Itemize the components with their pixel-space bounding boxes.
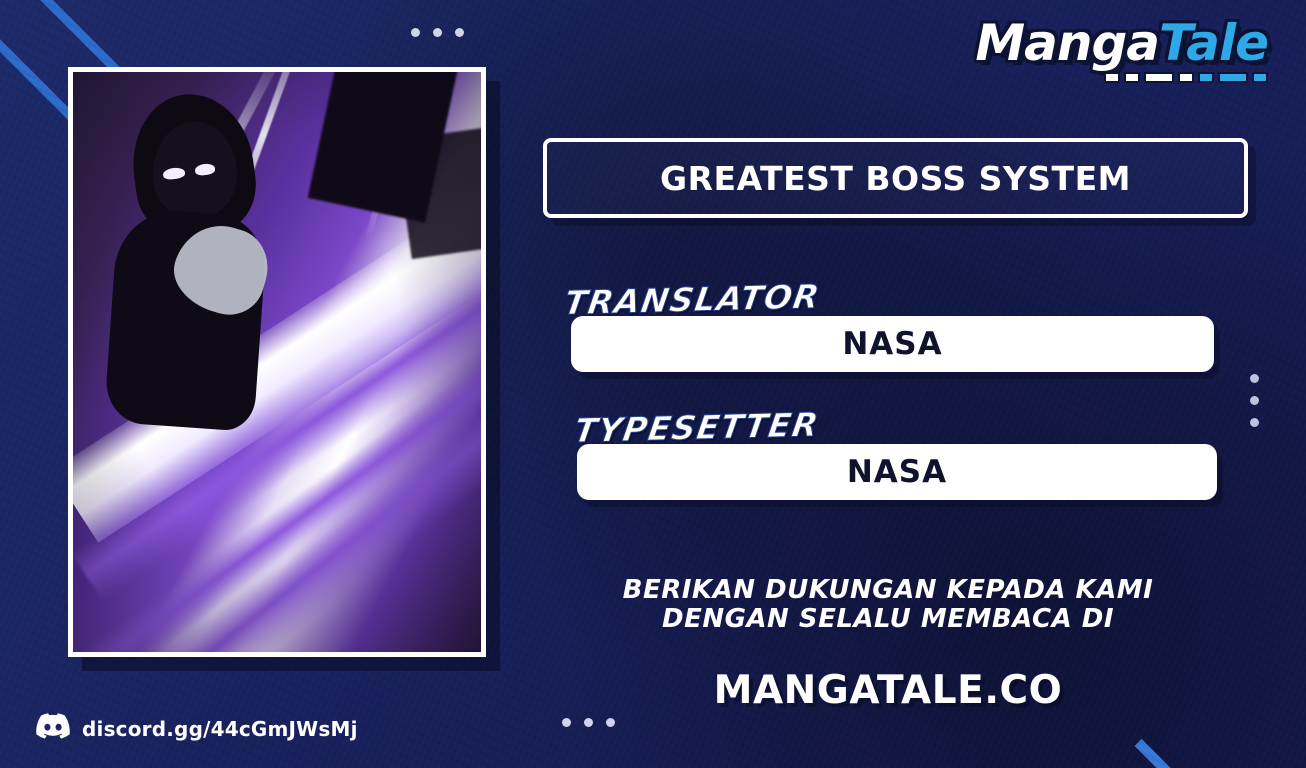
manga-credits-page: MangaTale GREATEST BOSS SYSTEM TRANSLATO… [0, 0, 1306, 768]
translator-label: TRANSLATOR [562, 277, 823, 323]
typesetter-label: TYPESETTER [572, 405, 822, 450]
series-title: GREATEST BOSS SYSTEM [660, 159, 1131, 198]
dot [455, 28, 464, 37]
artwork-vignette [73, 72, 481, 652]
logo-bar [1124, 72, 1140, 83]
dot [562, 718, 571, 727]
dot [433, 28, 442, 37]
logo-bar [1198, 72, 1214, 83]
chapter-artwork-panel [68, 67, 486, 657]
support-message-line1: BERIKAN DUKUNGAN KEPADA KAMI [543, 576, 1233, 605]
site-url[interactable]: MANGATALE.CO [543, 668, 1233, 713]
dot [584, 718, 593, 727]
credit-typesetter: TYPESETTER NASA [543, 408, 1255, 500]
logo-bar [1178, 72, 1194, 83]
series-title-box: GREATEST BOSS SYSTEM [543, 138, 1248, 218]
logo-wordmark: MangaTale [975, 18, 1268, 68]
support-message: BERIKAN DUKUNGAN KEPADA KAMI DENGAN SELA… [543, 576, 1233, 634]
typesetter-name: NASA [847, 454, 947, 490]
discord-invite-link[interactable]: discord.gg/44cGmJWsMj [82, 717, 358, 741]
logo-underbars-decoration [975, 72, 1268, 86]
dot [411, 28, 420, 37]
mangatale-logo[interactable]: MangaTale [975, 18, 1268, 86]
typesetter-value-pill: NASA [577, 444, 1217, 500]
translator-value-pill: NASA [571, 316, 1214, 372]
discord-icon [36, 713, 70, 744]
credits-column: GREATEST BOSS SYSTEM TRANSLATOR NASA TYP… [543, 138, 1255, 713]
logo-bar [1104, 72, 1120, 83]
logo-bar [1218, 72, 1248, 83]
discord-footer[interactable]: discord.gg/44cGmJWsMj [36, 713, 358, 744]
dot [606, 718, 615, 727]
three-dots-horizontal-icon-bottom [562, 718, 615, 727]
logo-bar [1252, 72, 1268, 83]
three-dots-horizontal-icon-top [411, 28, 464, 37]
translator-name: NASA [842, 326, 942, 362]
logo-bar [1144, 72, 1174, 83]
logo-word-manga: Manga [975, 14, 1159, 72]
logo-word-tale: Tale [1159, 14, 1268, 72]
support-message-line2: DENGAN SELALU MEMBACA DI [543, 605, 1233, 634]
credit-translator: TRANSLATOR NASA [543, 280, 1255, 372]
